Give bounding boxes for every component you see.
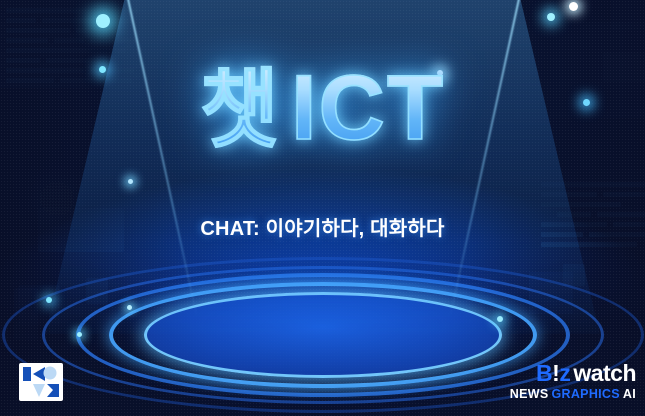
title-latin: ICT [291, 57, 445, 159]
bizwatch-tagline: NEWSGRAPHICSAI [510, 388, 636, 401]
tagline-graphics: GRAPHICS [552, 387, 620, 401]
decor-dotted-orb [40, 182, 74, 216]
tagline-ai: AI [623, 387, 636, 401]
graphic-canvas: 챗ICT CHAT: 이야기하다, 대화하다 B!zwatch NEWSGRAP… [0, 0, 645, 416]
biz-watch: watch [573, 360, 636, 386]
tagline-news: NEWS [510, 387, 549, 401]
title-korean: 챗 [200, 62, 281, 158]
subtitle: CHAT: 이야기하다, 대화하다 [0, 212, 645, 241]
page-title: 챗ICT [200, 62, 445, 154]
bizwatch-logo: B!zwatch NEWSGRAPHICSAI [510, 362, 636, 401]
biz-b: B [536, 360, 552, 386]
kb-logo-icon [19, 363, 63, 401]
biz-z: z [559, 360, 570, 386]
kb-square-logo [19, 363, 63, 401]
bizwatch-wordmark: B!zwatch [510, 362, 636, 385]
title-block: 챗ICT [0, 62, 645, 154]
